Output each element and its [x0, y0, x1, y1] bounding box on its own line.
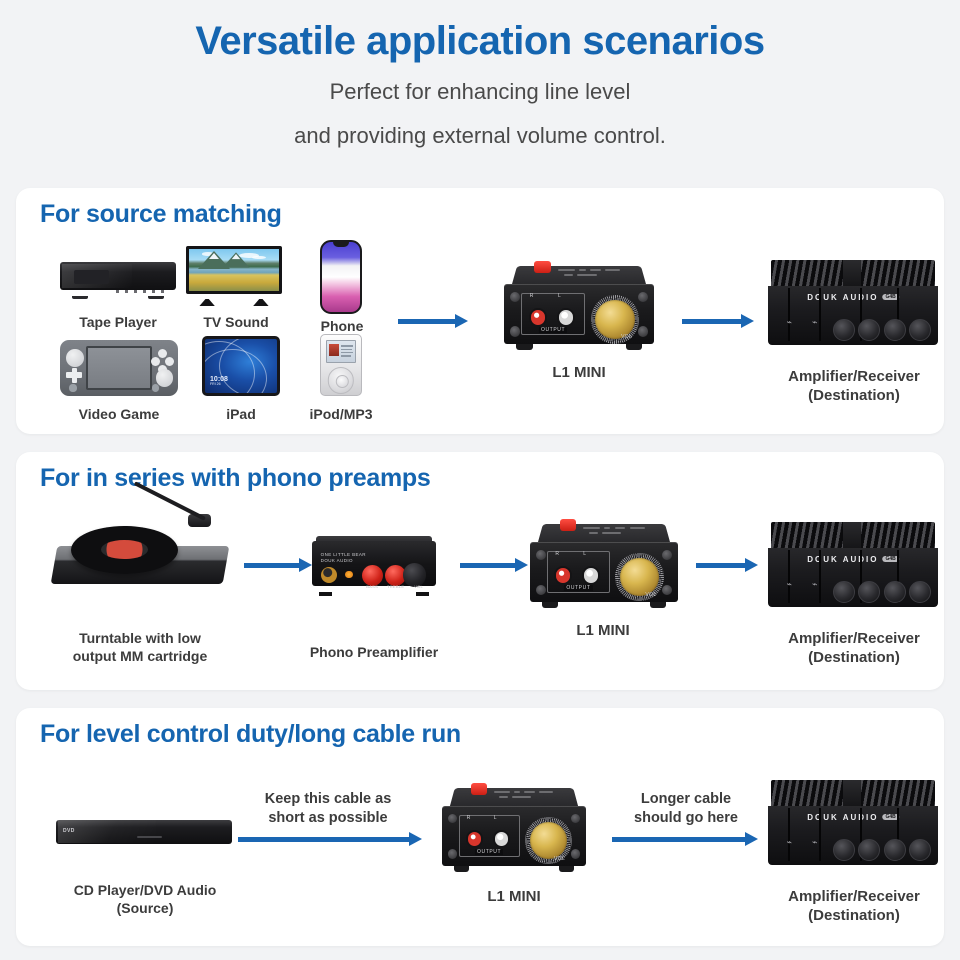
preamp-volume-knob-icon	[403, 563, 427, 587]
section-title-phono-preamps: For in series with phono preamps	[40, 464, 430, 493]
output-port-label: OUTPUT	[539, 327, 567, 333]
source-label-tv-sound: TV Sound	[176, 314, 296, 332]
rca-jack-left-icon	[557, 308, 575, 326]
amplifier-knob-icon	[833, 319, 855, 341]
turntable-icon	[54, 512, 226, 598]
volume-label: VOL	[554, 856, 565, 862]
flow-arrow	[682, 314, 754, 328]
l1-mini-device-icon: R L OUTPUT VOL	[504, 258, 654, 350]
device-label-l1-mini: L1 MINI	[504, 364, 654, 383]
amplifier-knob-icon	[909, 839, 931, 861]
tape-player-icon	[60, 254, 176, 302]
device-label-cd-player: CD Player/DVD Audio (Source)	[34, 882, 256, 917]
output-port-label: OUTPUT	[475, 849, 503, 855]
amplifier-knob-icon	[884, 319, 906, 341]
power-button-icon	[560, 519, 576, 531]
rca-jack-right-icon	[554, 566, 572, 584]
amplifier-knob-icon	[858, 581, 880, 603]
amplifier-knob-icon	[858, 319, 880, 341]
device-label-l1-mini: L1 MINI	[528, 622, 678, 641]
section-card-level-control: For level control duty/long cable run DV…	[16, 708, 944, 946]
rca-left-label: L	[558, 293, 561, 299]
page-subtitle-line-2: and providing external volume control.	[0, 120, 960, 152]
tablet-icon: 10:08FRI 26	[202, 336, 280, 396]
toggle-switch-icon: ⌁	[782, 311, 797, 335]
amplifier-knob-icon	[833, 581, 855, 603]
source-label-phone: Phone	[304, 318, 380, 336]
phono-preamp-device-icon: ONE LITTLE BEAR DOUK AUDIO BASS TREBLE V…	[312, 536, 436, 598]
device-label-amplifier: Amplifier/Receiver (Destination)	[768, 630, 940, 668]
toggle-switch-icon: ⌁	[807, 311, 822, 335]
output-port-label: OUTPUT	[564, 585, 592, 591]
toggle-switch-icon: ⌁	[782, 573, 797, 597]
amplifier-device-icon: DOUK AUDIO G4B ⌁ ⌁	[768, 780, 938, 874]
source-label-ipad: iPad	[202, 406, 280, 424]
toggle-switch-icon: ⌁	[807, 573, 822, 597]
source-label-tape-player: Tape Player	[40, 314, 196, 332]
source-label-ipod-mp3: iPod/MP3	[290, 406, 392, 424]
power-led-icon	[345, 571, 352, 578]
rca-left-label: L	[494, 815, 497, 821]
section-card-phono-preamps: For in series with phono preamps Turntab…	[16, 452, 944, 690]
device-label-l1-mini: L1 MINI	[440, 888, 588, 907]
source-label-video-game: Video Game	[40, 406, 198, 424]
flow-arrow	[612, 832, 758, 846]
bass-knob-icon	[362, 565, 383, 586]
headphone-jack-icon	[321, 567, 337, 583]
flow-arrow	[398, 314, 468, 328]
rca-jack-left-icon	[582, 566, 600, 584]
rca-right-label: R	[467, 815, 471, 821]
section-title-level-control: For level control duty/long cable run	[40, 720, 461, 749]
volume-label: VOL	[621, 334, 632, 340]
page-title: Versatile application scenarios	[0, 18, 960, 64]
device-label-amplifier: Amplifier/Receiver (Destination)	[768, 888, 940, 926]
toggle-switch-icon: ⌁	[807, 831, 822, 855]
treble-label: TREBLE	[387, 584, 404, 589]
rca-jack-right-icon	[529, 308, 547, 326]
game-console-icon	[60, 340, 178, 396]
volume-label: VOL	[645, 592, 656, 598]
device-label-turntable: Turntable with low output MM cartridge	[38, 630, 242, 665]
mp3-player-icon	[320, 334, 362, 396]
television-icon	[186, 246, 282, 306]
power-button-icon	[471, 783, 487, 795]
flow-arrow	[238, 832, 422, 846]
l1-mini-device-icon: R L OUTPUT VOL	[442, 780, 586, 872]
page-subtitle-line-1: Perfect for enhancing line level	[0, 76, 960, 108]
dvd-logo-label: DVD	[63, 828, 75, 834]
page-header: Versatile application scenarios Perfect …	[0, 0, 960, 152]
l1-mini-device-icon: R L OUTPUT VOL	[530, 516, 678, 608]
amplifier-knob-icon	[858, 839, 880, 861]
preamp-volume-label: VOL	[414, 584, 423, 589]
annotation-long-cable: Longer cable should go here	[606, 790, 766, 828]
cd-dvd-player-icon: DVD	[56, 814, 232, 854]
rca-left-label: L	[583, 551, 586, 557]
section-title-source-matching: For source matching	[40, 200, 282, 229]
bass-label: BASS	[366, 584, 378, 589]
rca-right-label: R	[555, 551, 559, 557]
flow-arrow	[244, 558, 312, 572]
amplifier-knob-icon	[884, 839, 906, 861]
amplifier-device-icon: DOUK AUDIO G4B ⌁ ⌁	[768, 260, 938, 354]
amplifier-knob-icon	[833, 839, 855, 861]
amplifier-knob-icon	[909, 581, 931, 603]
annotation-short-cable: Keep this cable as short as possible	[238, 790, 418, 828]
device-label-amplifier: Amplifier/Receiver (Destination)	[768, 368, 940, 406]
power-button-icon	[534, 261, 551, 273]
amplifier-device-icon: DOUK AUDIO G4B ⌁ ⌁	[768, 522, 938, 616]
infographic-page: Versatile application scenarios Perfect …	[0, 0, 960, 960]
amplifier-knob-icon	[909, 319, 931, 341]
rca-right-label: R	[530, 293, 534, 299]
flow-arrow	[696, 558, 758, 572]
preamp-brand-label: ONE LITTLE BEAR DOUK AUDIO	[321, 552, 366, 564]
toggle-switch-icon: ⌁	[782, 831, 797, 855]
device-label-phono-preamp: Phono Preamplifier	[298, 644, 450, 662]
smartphone-icon	[320, 240, 362, 314]
rca-jack-right-icon	[466, 830, 484, 848]
rca-jack-left-icon	[493, 830, 511, 848]
flow-arrow	[460, 558, 528, 572]
section-card-source-matching: For source matching Tape Player TV Sound	[16, 188, 944, 434]
amplifier-knob-icon	[884, 581, 906, 603]
